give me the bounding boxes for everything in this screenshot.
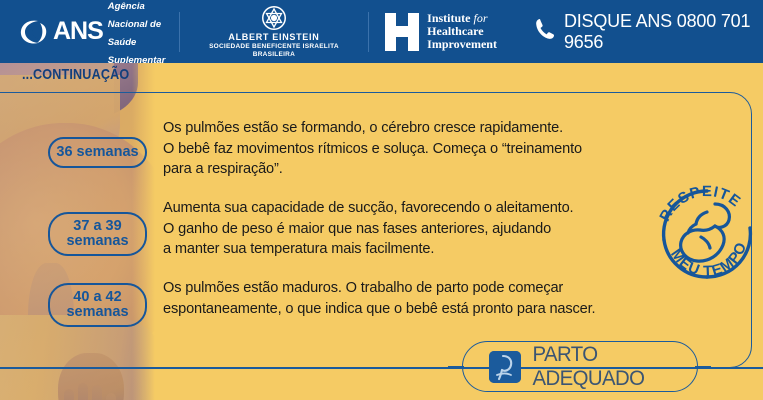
text-line: a manter sua temperatura mais facilmente… [163, 239, 673, 260]
phone-info: DISQUE ANS 0800 701 9656 [513, 0, 763, 63]
ans-fullname: Agência Nacional de Saúde Suplementar [108, 0, 179, 68]
description-text-36: Os pulmões estão se formando, o cérebro … [163, 118, 673, 180]
ihi-line3: Improvement [427, 37, 497, 51]
badge-line: 40 a 42 [66, 290, 128, 305]
week-badge-40-42: 40 a 42 semanas [48, 283, 147, 327]
ihi-line1: Institute [427, 11, 470, 25]
ihi-logo: Institute for Healthcare Improvement [369, 0, 513, 63]
pa-box: PARTO ADEQUADO [462, 341, 698, 392]
ans-logo: ANS Agência Nacional de Saúde Suplementa… [0, 0, 179, 63]
phone-number: DISQUE ANS 0800 701 9656 [564, 11, 763, 53]
ans-fullname-line2: Saúde Suplementar [108, 37, 166, 66]
einstein-subtitle: SOCIEDADE BENEFICENTE ISRAELITA BRASILEI… [198, 43, 351, 59]
poster-root: ANS Agência Nacional de Saúde Suplementa… [0, 0, 763, 400]
ihi-h-block-icon [385, 13, 419, 51]
text-line: Os pulmões estão se formando, o cérebro … [163, 118, 673, 139]
text-line: espontaneamente, o que indica que o bebê… [163, 299, 673, 320]
text-line: O ganho de peso é maior que nas fases an… [163, 219, 673, 240]
ans-fullname-line1: Agência Nacional de [108, 1, 161, 30]
description-text-40-42: Os pulmões estão maduros. O trabalho de … [163, 278, 673, 319]
ihi-wordmark: Institute for Healthcare Improvement [427, 12, 497, 51]
text-line: O bebê faz movimentos rítmicos e soluça.… [163, 139, 673, 160]
badge-line: semanas [66, 305, 128, 320]
text-line: Aumenta sua capacidade de sucção, favore… [163, 198, 673, 219]
parto-adequado-mark-icon [489, 351, 521, 383]
ans-swirl-icon [18, 17, 48, 47]
einstein-name: ALBERT EINSTEIN [228, 32, 319, 42]
badge-line: semanas [66, 234, 128, 249]
description-text-37-39: Aumenta sua capacidade de sucção, favore… [163, 198, 673, 260]
week-badge-37-39: 37 a 39 semanas [48, 212, 147, 256]
respeite-meu-tempo-seal: RESPEITE MEU TEMPO [655, 182, 759, 286]
continuation-label: ...CONTINUAÇÃO [22, 66, 129, 83]
ihi-line1-italic: for [474, 11, 488, 25]
einstein-logo: ALBERT EINSTEIN SOCIEDADE BENEFICENTE IS… [180, 0, 369, 63]
parto-adequado-label: PARTO ADEQUADO [533, 343, 695, 391]
badge-line: 36 semanas [56, 145, 138, 160]
phone-handset-icon [535, 18, 555, 45]
week-badge-36: 36 semanas [48, 137, 147, 168]
text-line: para a respiração”. [163, 159, 673, 180]
text-line: Os pulmões estão maduros. O trabalho de … [163, 278, 673, 299]
star-of-david-icon [261, 5, 287, 31]
badge-line: 37 a 39 [66, 219, 128, 234]
header-bar: ANS Agência Nacional de Saúde Suplementa… [0, 0, 763, 63]
ihi-line2: Healthcare [427, 24, 483, 38]
parto-adequado-logo: PARTO ADEQUADO [448, 341, 711, 392]
ans-acronym: ANS [53, 19, 103, 44]
